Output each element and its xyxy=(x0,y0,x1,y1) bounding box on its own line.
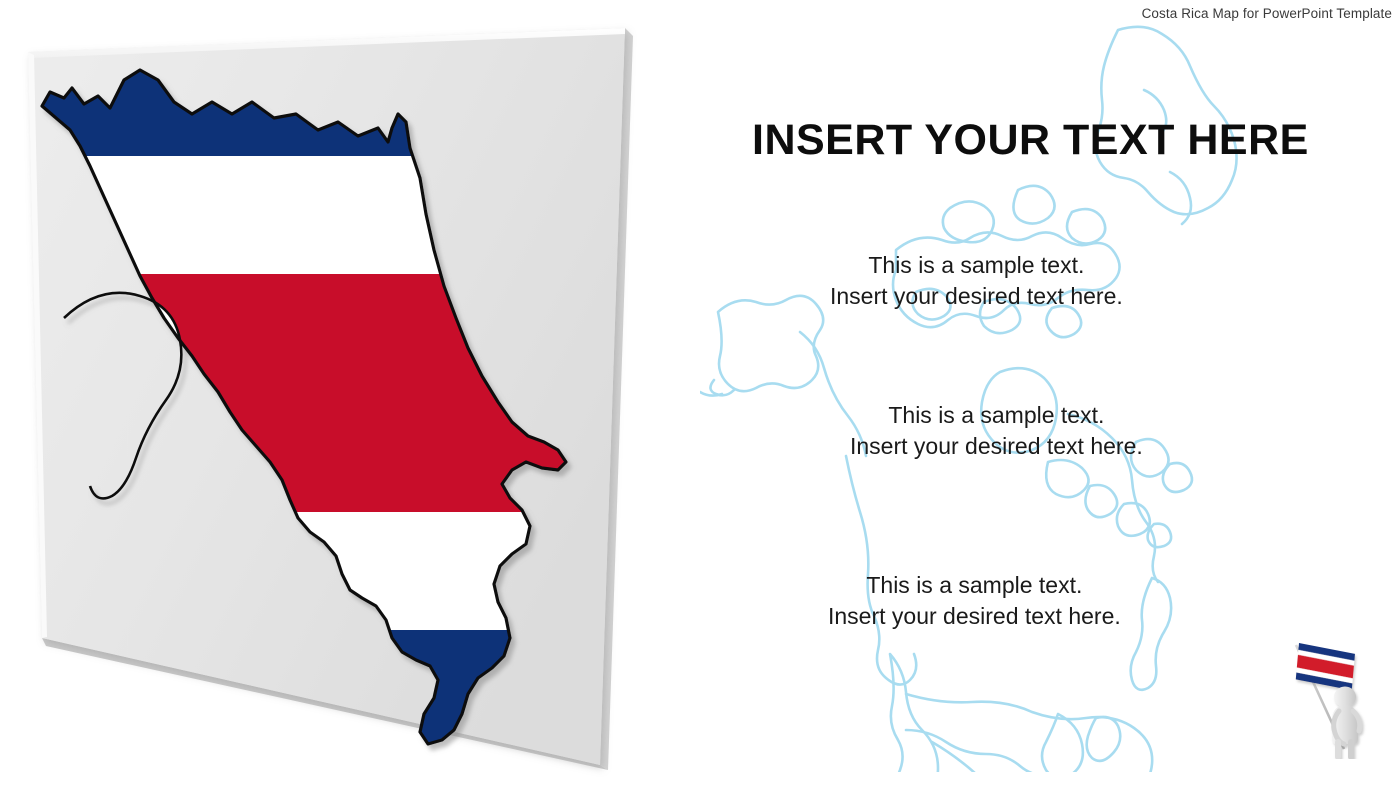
sample-text-line-2: Insert your desired text here. xyxy=(828,601,1121,632)
figurine-with-flag-icon xyxy=(1290,631,1390,759)
sample-text-block-1[interactable]: This is a sample text. Insert your desir… xyxy=(830,250,1123,312)
header-template-label: Costa Rica Map for PowerPoint Template xyxy=(1142,6,1392,21)
figurine-head xyxy=(1334,687,1356,708)
sample-text-line-1: This is a sample text. xyxy=(850,400,1143,431)
costa-rica-flag xyxy=(1296,643,1355,690)
map-card-svg xyxy=(0,10,660,790)
map-card-panel xyxy=(0,10,660,790)
sample-text-line-1: This is a sample text. xyxy=(828,570,1121,601)
page-title[interactable]: INSERT YOUR TEXT HERE xyxy=(752,116,1309,165)
sample-text-block-2[interactable]: This is a sample text. Insert your desir… xyxy=(850,400,1143,462)
sample-text-line-1: This is a sample text. xyxy=(830,250,1123,281)
figurine-body xyxy=(1332,687,1360,758)
sample-text-line-2: Insert your desired text here. xyxy=(830,281,1123,312)
sample-text-block-3[interactable]: This is a sample text. Insert your desir… xyxy=(828,570,1121,632)
sample-text-line-2: Insert your desired text here. xyxy=(850,431,1143,462)
